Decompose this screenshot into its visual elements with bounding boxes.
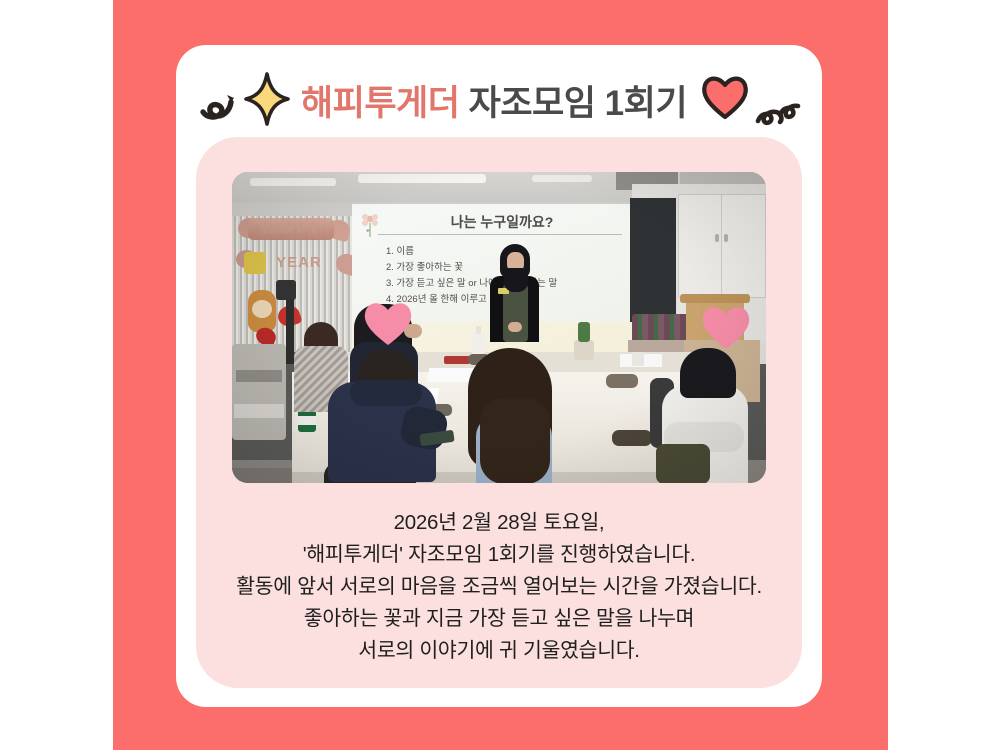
pink-content-panel: HAPPY YEAR 나는 누구일까요? 1. 이 [196,137,802,688]
heart-icon [699,72,751,122]
caption-line: 활동에 앞서 서로의 마음을 조금씩 열어보는 시간을 가졌습니다. [196,571,802,603]
photo-vignette [232,172,766,483]
swirl-flourish-icon [197,82,239,124]
sparkle-star-icon [243,71,291,127]
caption-line: 좋아하는 꽃과 지금 가장 듣고 싶은 말을 나누며 [196,603,802,635]
group-meeting-photo: HAPPY YEAR 나는 누구일까요? 1. 이 [232,172,766,483]
caption-line: 서로의 이야기에 귀 기울였습니다. [196,635,802,667]
page-title: 해피투게더 자조모임 1회기 [301,86,687,121]
title-row: 해피투게더 자조모임 1회기 [176,63,822,143]
page-title-brand: 해피투게더 [301,84,460,123]
caption-line: 2026년 2월 28일 토요일, [196,507,802,539]
page-title-rest: 자조모임 1회기 [459,84,687,123]
caption-block: 2026년 2월 28일 토요일, '해피투게더' 자조모임 1회기를 진행하였… [196,507,802,667]
caption-line: '해피투게더' 자조모임 1회기를 진행하였습니다. [196,539,802,571]
content-card: 해피투게더 자조모임 1회기 HAPP [176,45,822,707]
double-swirl-flourish-icon [755,91,801,131]
